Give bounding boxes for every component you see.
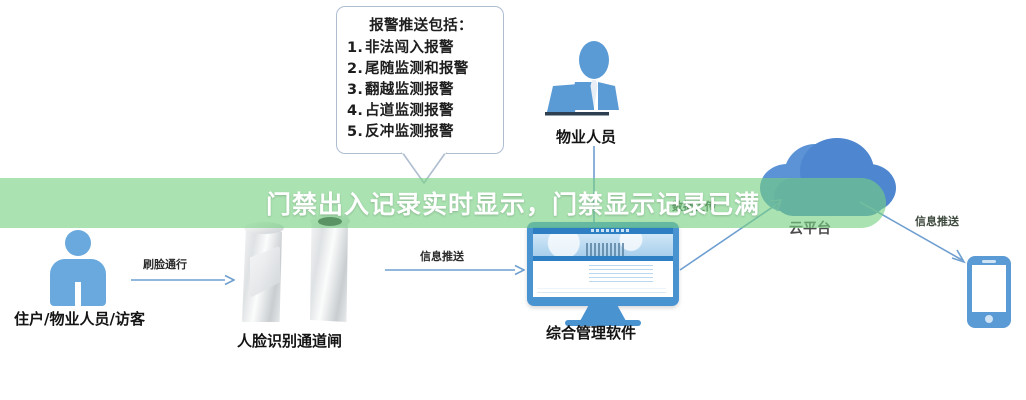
- list-item: 3.翻越监测报警: [347, 80, 499, 101]
- list-item-label: 占道监测报警: [365, 103, 454, 119]
- list-item-label: 非法闯入报警: [365, 40, 454, 56]
- list-item: 5.反冲监测报警: [347, 122, 499, 143]
- list-item-label: 翻越监测报警: [365, 82, 454, 98]
- arrow-label-face-pass: 刷脸通行: [143, 256, 187, 272]
- staff-label: 物业人员: [556, 126, 616, 147]
- list-item-label: 尾随监测和报警: [365, 61, 469, 77]
- list-item-number: 5.: [347, 122, 365, 143]
- list-item: 1.非法闯入报警: [347, 38, 499, 59]
- person-icon: [47, 230, 109, 306]
- alarm-callout-box: 报警推送包括： 1.非法闯入报警 2.尾随监测和报警 3.翻越监测报警 4.占道…: [336, 6, 504, 154]
- monitor-icon: [527, 222, 679, 328]
- list-item-label: 反冲监测报警: [365, 124, 454, 140]
- banner-title: 门禁出入记录实时显示，门禁显示记录已满: [0, 178, 1026, 228]
- callout-list: 1.非法闯入报警 2.尾随监测和报警 3.翻越监测报警 4.占道监测报警 5.反…: [347, 38, 499, 143]
- smartphone-icon: [967, 256, 1011, 328]
- diagram-canvas: 报警推送包括： 1.非法闯入报警 2.尾随监测和报警 3.翻越监测报警 4.占道…: [0, 0, 1026, 400]
- turnstile-icon: [240, 212, 370, 324]
- arrow-face-pass: [131, 272, 235, 288]
- callout-title: 报警推送包括：: [347, 16, 499, 37]
- arrow-info-push-1: [385, 262, 525, 278]
- gate-label: 人脸识别通道闸: [237, 330, 342, 351]
- list-item-number: 4.: [347, 101, 365, 122]
- list-item-number: 1.: [347, 38, 365, 59]
- list-item-number: 3.: [347, 80, 365, 101]
- list-item-number: 2.: [347, 59, 365, 80]
- resident-label: 住户/物业人员/访客: [14, 308, 145, 329]
- list-item: 4.占道监测报警: [347, 101, 499, 122]
- staff-at-desk-icon: [545, 38, 643, 122]
- list-item: 2.尾随监测和报警: [347, 59, 499, 80]
- software-label: 综合管理软件: [546, 322, 636, 343]
